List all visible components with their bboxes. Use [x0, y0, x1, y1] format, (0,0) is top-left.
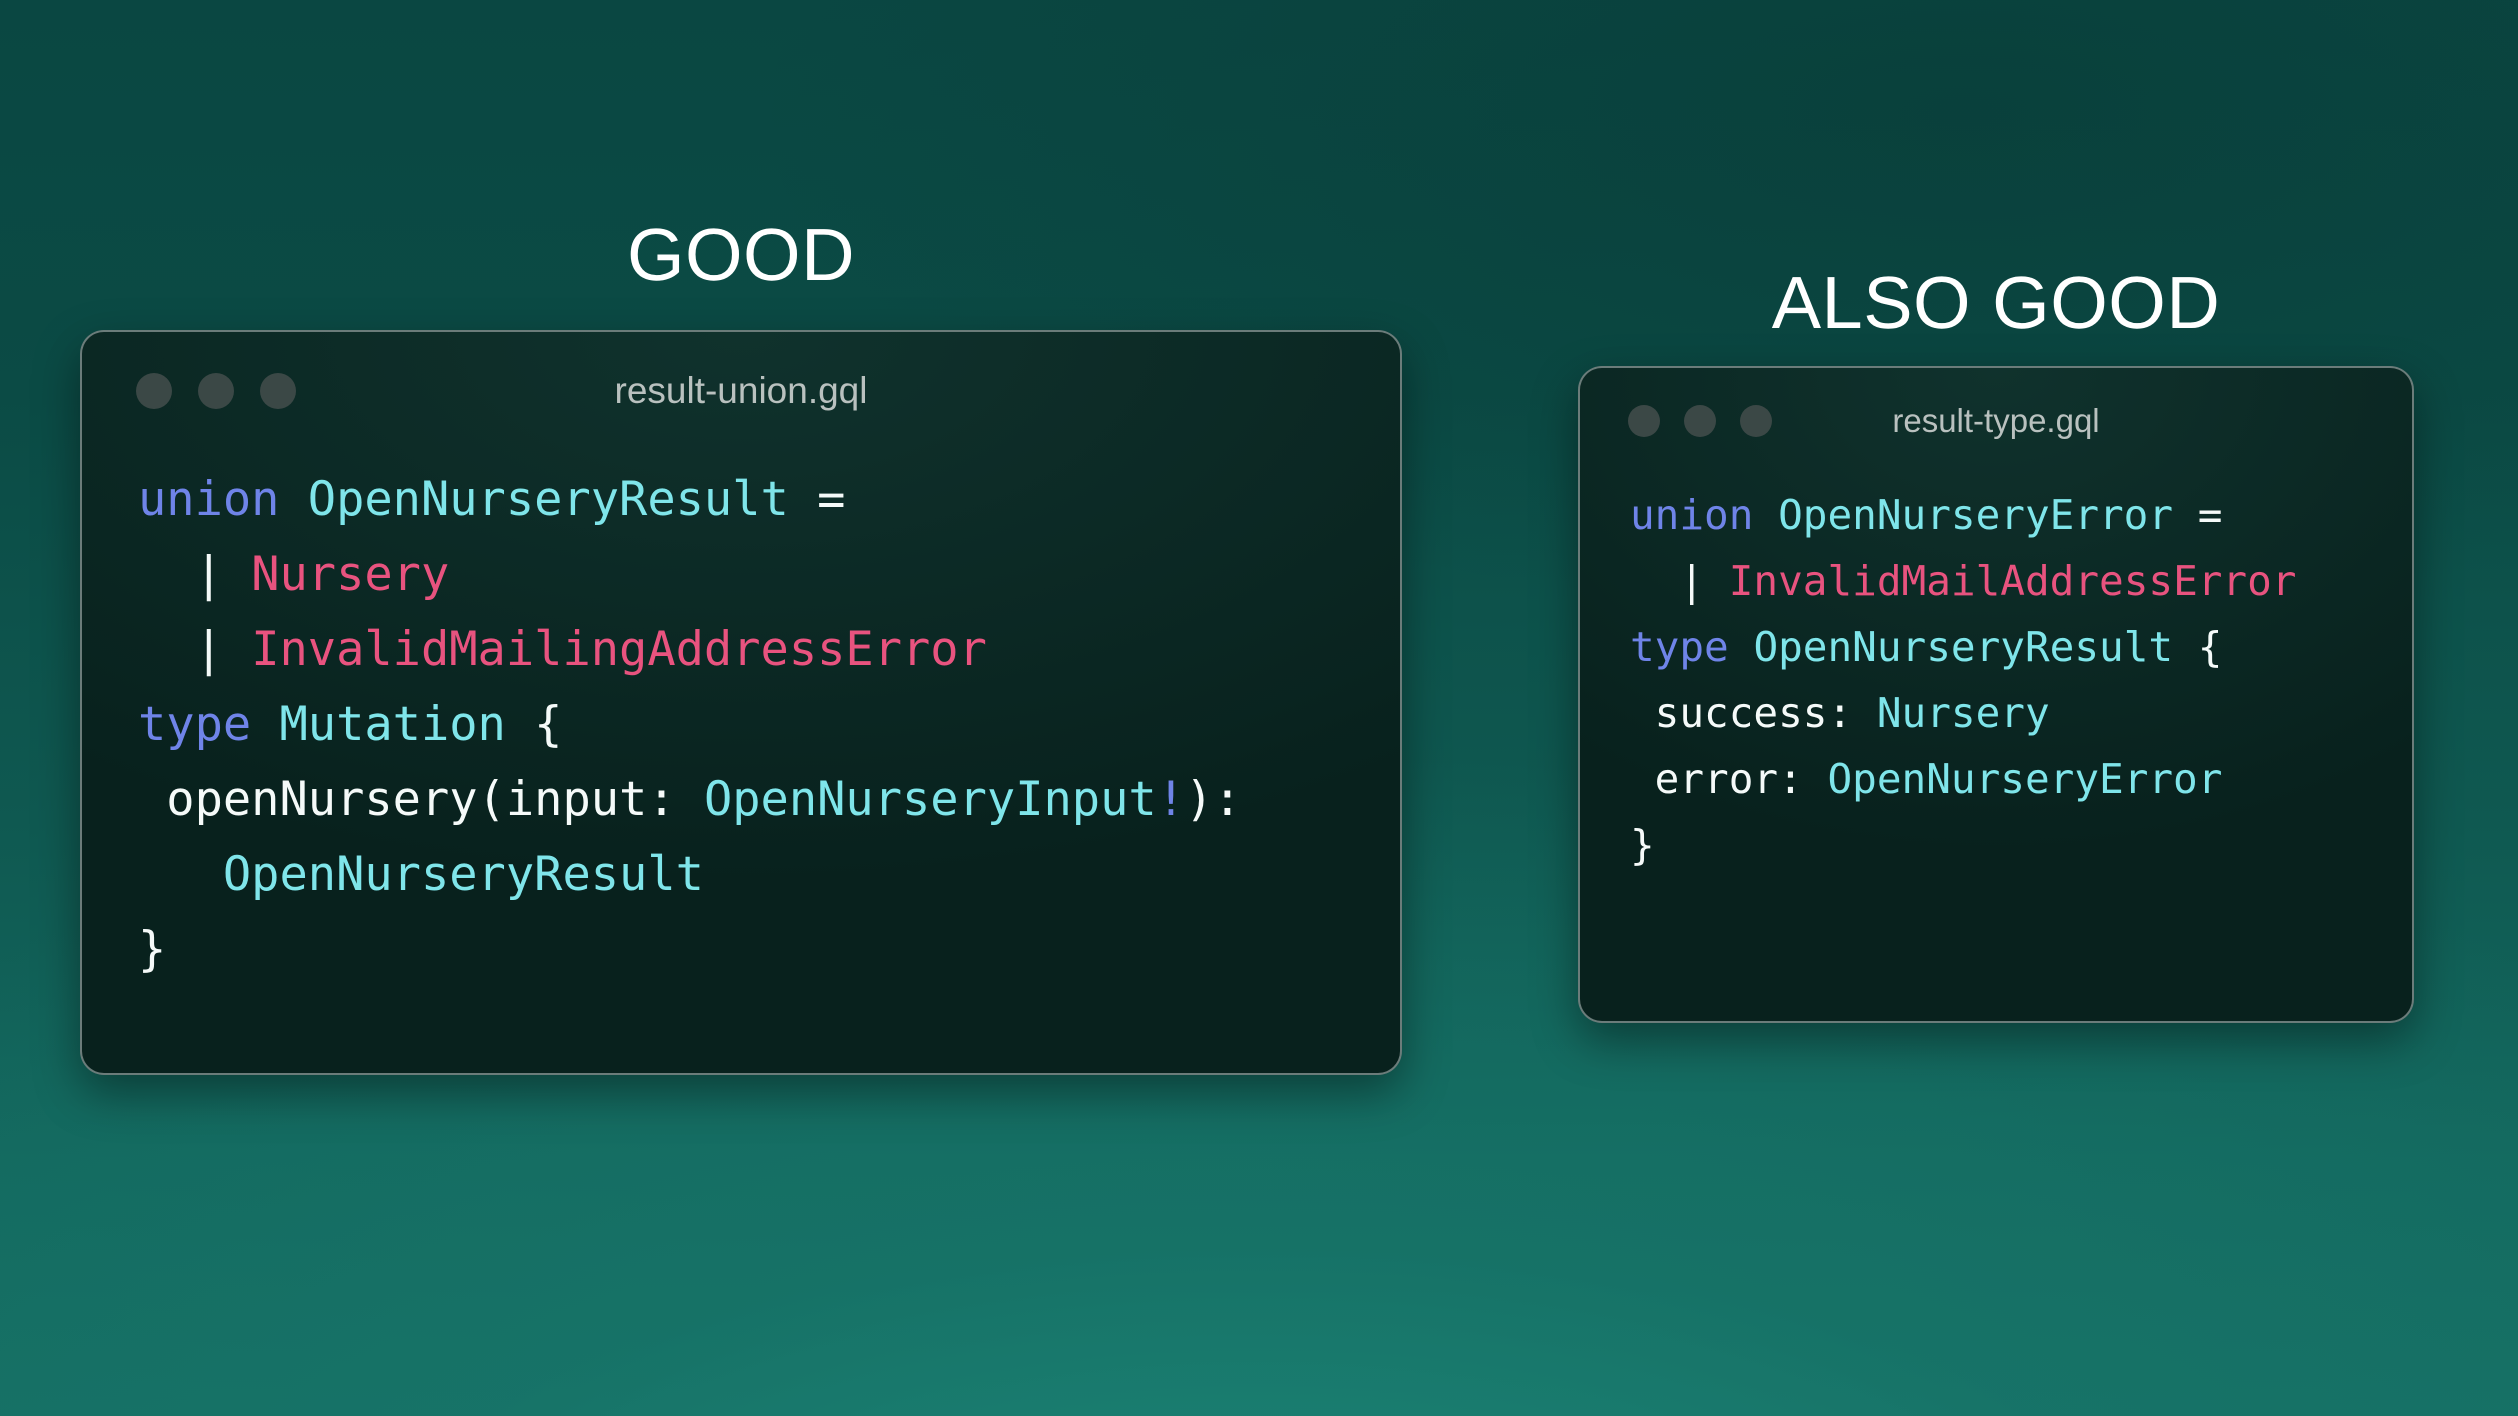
code-line: | InvalidMailAddressError [1630, 548, 2412, 614]
code-line: } [138, 912, 1400, 987]
code-token: OpenNurseryError [1778, 491, 2173, 539]
code-token: | [138, 622, 251, 677]
code-token: error: [1630, 755, 1827, 803]
code-token [1729, 623, 1754, 671]
code-token: | [1630, 557, 1729, 605]
titlebar-also-good: result-type.gql [1580, 368, 2412, 474]
code-block-good: union OpenNurseryResult = | Nursery | In… [82, 450, 1400, 987]
code-line: | Nursery [138, 537, 1400, 612]
code-line: openNursery(input: OpenNurseryInput!): [138, 762, 1400, 837]
filename-label-also-good: result-type.gql [1580, 402, 2412, 440]
code-token: Mutation [279, 697, 505, 752]
code-token: ): [1185, 772, 1242, 827]
code-token: union [138, 472, 279, 527]
panel-title-also-good: ALSO GOOD [1578, 266, 2414, 340]
code-token [251, 697, 279, 752]
code-token: type [1630, 623, 1729, 671]
code-token: = [789, 472, 846, 527]
code-token: union [1630, 491, 1753, 539]
code-token: Nursery [1877, 689, 2050, 737]
titlebar-good: result-union.gql [82, 332, 1400, 450]
code-line: error: OpenNurseryError [1630, 746, 2412, 812]
filename-label-good: result-union.gql [82, 370, 1400, 412]
code-token: { [2173, 623, 2222, 671]
code-token: ! [1157, 772, 1185, 827]
code-token: Nursery [251, 547, 449, 602]
code-line: } [1630, 812, 2412, 878]
code-line: union OpenNurseryResult = [138, 462, 1400, 537]
code-token: | [138, 547, 251, 602]
code-token: } [138, 922, 166, 977]
code-token: openNursery(input: [138, 772, 704, 827]
code-token: InvalidMailingAddressError [251, 622, 987, 677]
code-token [138, 847, 223, 902]
panel-good: GOOD result-union.gql union OpenNurseryR… [80, 218, 1402, 1075]
panel-title-good: GOOD [80, 218, 1402, 292]
code-line: success: Nursery [1630, 680, 2412, 746]
code-line: type Mutation { [138, 687, 1400, 762]
code-token: OpenNurseryInput [704, 772, 1157, 827]
code-token [1753, 491, 1778, 539]
code-token: OpenNurseryResult [1753, 623, 2173, 671]
code-token: type [138, 697, 251, 752]
code-line: union OpenNurseryError = [1630, 482, 2412, 548]
code-token: OpenNurseryResult [223, 847, 704, 902]
code-block-also-good: union OpenNurseryError = | InvalidMailAd… [1580, 474, 2412, 878]
code-line: | InvalidMailingAddressError [138, 612, 1400, 687]
code-window-also-good: result-type.gql union OpenNurseryError =… [1578, 366, 2414, 1023]
code-token [279, 472, 307, 527]
code-window-good: result-union.gql union OpenNurseryResult… [80, 330, 1402, 1075]
code-token: = [2173, 491, 2222, 539]
code-token: { [506, 697, 563, 752]
code-token: OpenNurseryResult [308, 472, 789, 527]
code-line: type OpenNurseryResult { [1630, 614, 2412, 680]
code-token: success: [1630, 689, 1877, 737]
panel-also-good: ALSO GOOD result-type.gql union OpenNurs… [1578, 266, 2414, 1023]
code-token: } [1630, 821, 1655, 869]
code-token: OpenNurseryError [1827, 755, 2222, 803]
code-line: OpenNurseryResult [138, 837, 1400, 912]
code-token: InvalidMailAddressError [1729, 557, 2297, 605]
